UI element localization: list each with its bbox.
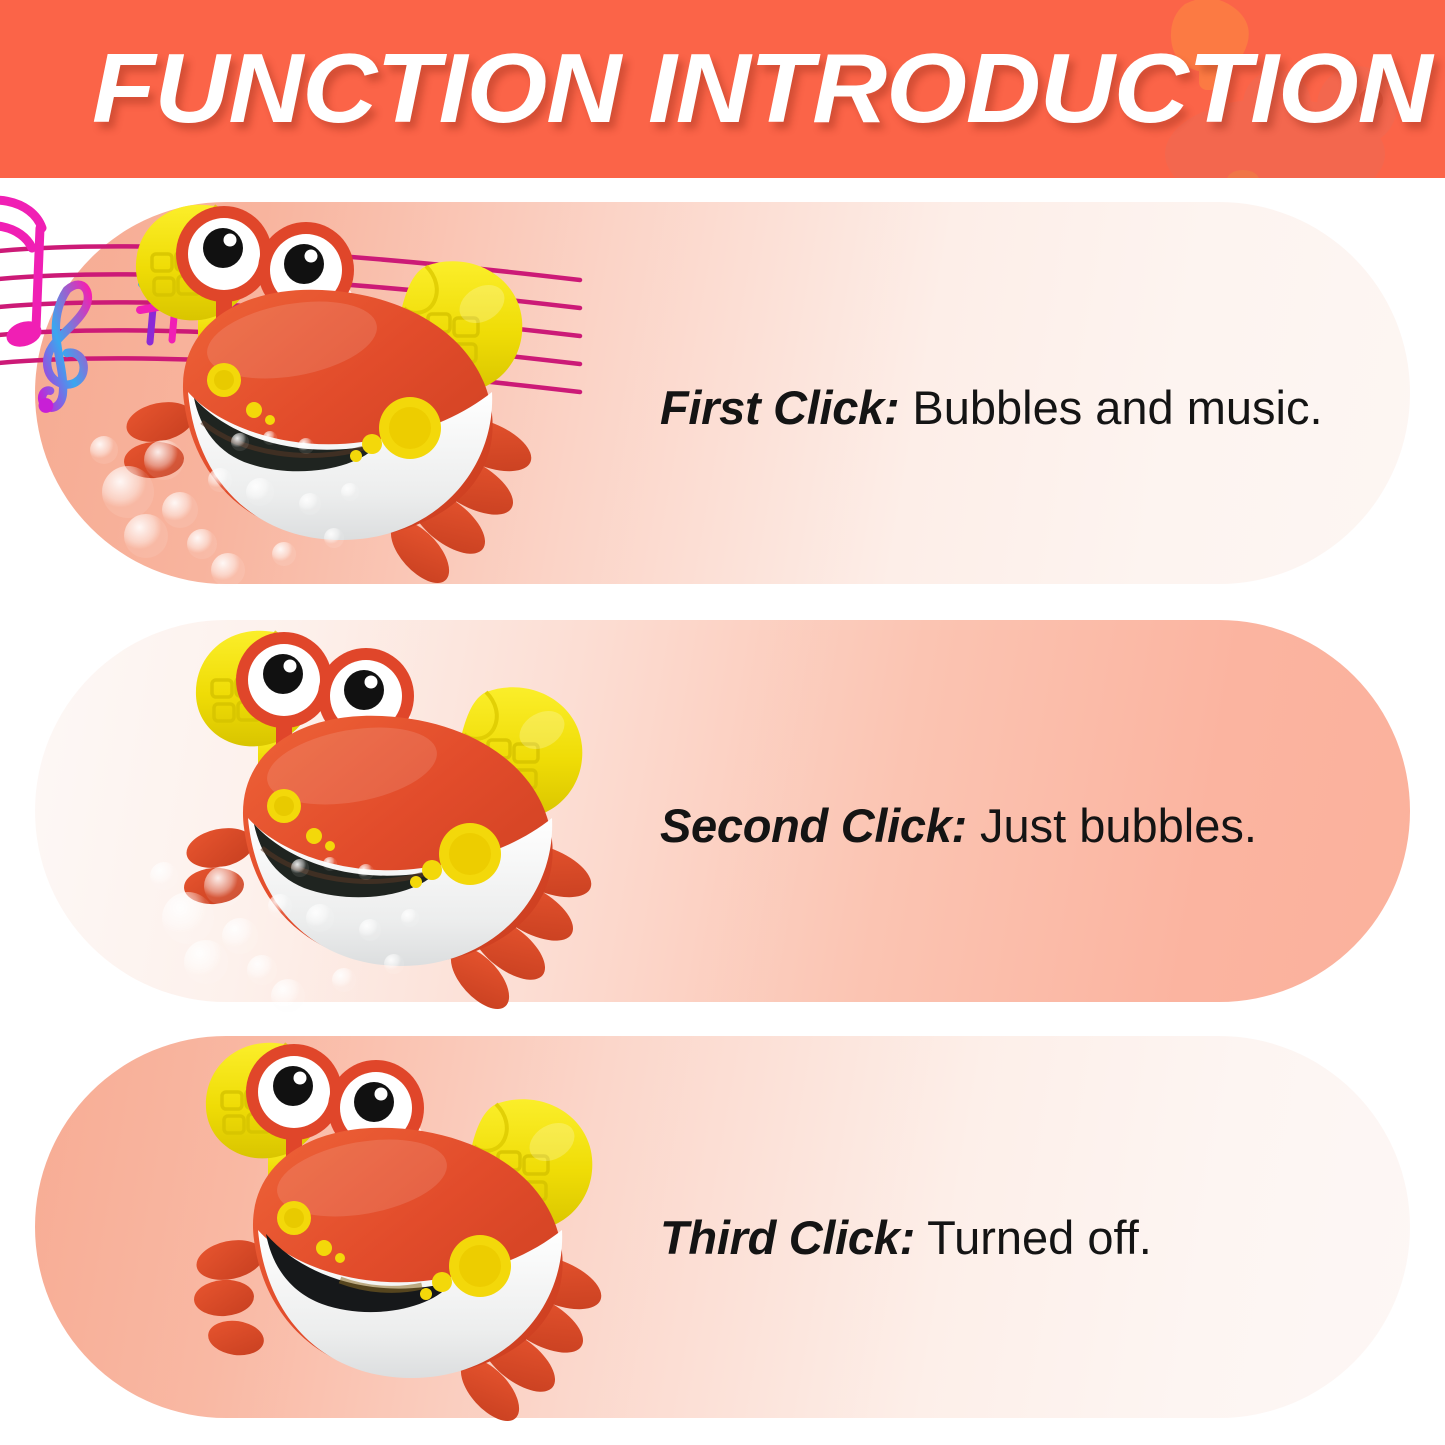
caption-lead: Second Click:: [660, 799, 967, 852]
caption-rest: Turned off.: [915, 1211, 1152, 1264]
page-title: FUNCTION INTRODUCTION: [92, 22, 1432, 154]
music-note-head-icon: [3, 317, 45, 351]
caption-rest: Just bubbles.: [967, 799, 1257, 852]
header-banner: FUNCTION INTRODUCTION: [0, 0, 1445, 178]
music-note-icon: [0, 200, 42, 328]
caption-lead: First Click:: [660, 381, 899, 434]
caption-third-click: Third Click: Turned off.: [660, 1210, 1152, 1265]
infographic-page: FUNCTION INTRODUCTION: [0, 0, 1445, 1445]
caption-first-click: First Click: Bubbles and music.: [660, 380, 1323, 435]
caption-rest: Bubbles and music.: [899, 381, 1322, 434]
caption-second-click: Second Click: Just bubbles.: [660, 798, 1257, 853]
caption-lead: Third Click:: [660, 1211, 915, 1264]
